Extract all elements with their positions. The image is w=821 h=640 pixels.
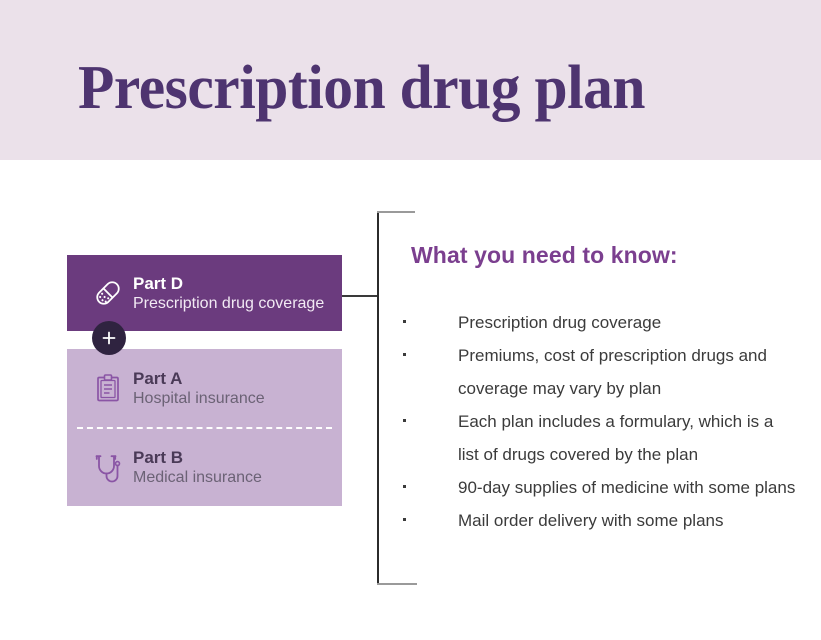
card-part-a-title: Part A [133,368,265,389]
clipboard-icon [67,372,129,404]
info-panel: What you need to know: Prescription drug… [377,211,797,585]
bullet-marker-icon [403,518,406,521]
card-part-d-subtitle: Prescription drug coverage [133,294,324,313]
expand-plus-button[interactable] [92,321,126,355]
bracket-bottom-stub [377,583,417,585]
header-band: Prescription drug plan [0,0,821,160]
bullet-marker-icon [403,320,406,323]
list-item-text: 90-day supplies of medicine with some pl… [458,478,795,497]
list-item: 90-day supplies of medicine with some pl… [403,471,797,504]
list-item: Mail order delivery with some plans [403,504,797,537]
list-item: Each plan includes a formulary, which is… [403,405,797,471]
bracket-vertical-line [377,211,379,585]
bullet-marker-icon [403,485,406,488]
list-item: Prescription drug coverage [403,306,797,339]
stethoscope-icon [67,450,129,484]
card-part-d-title: Part D [133,273,324,294]
bracket-top-stub [377,211,415,213]
card-part-d-text: Part D Prescription drug coverage [129,273,324,313]
list-item-text: Premiums, cost of prescription drugs and… [458,346,767,398]
list-item: Premiums, cost of prescription drugs and… [403,339,797,405]
card-part-b-text: Part B Medical insurance [129,447,262,487]
card-part-a[interactable]: Part A Hospital insurance [67,349,342,427]
plus-icon [101,330,117,346]
card-part-d[interactable]: Part D Prescription drug coverage [67,255,342,331]
inactive-cards-group: Part A Hospital insurance Part B Med [67,349,342,506]
list-item-text: Mail order delivery with some plans [458,511,724,530]
card-part-a-subtitle: Hospital insurance [133,389,265,408]
card-part-b-title: Part B [133,447,262,468]
card-part-b-subtitle: Medical insurance [133,468,262,487]
plan-parts-card-stack: Part D Prescription drug coverage Part A… [67,255,342,331]
card-part-b[interactable]: Part B Medical insurance [67,428,342,506]
bullet-marker-icon [403,353,406,356]
connector-line [342,295,379,297]
card-part-a-text: Part A Hospital insurance [129,368,265,408]
bullet-marker-icon [403,419,406,422]
info-bullet-list: Prescription drug coverage Premiums, cos… [403,306,797,537]
page-title: Prescription drug plan [78,52,645,124]
pill-capsule-icon [67,276,129,310]
list-item-text: Prescription drug coverage [458,313,661,332]
panel-heading: What you need to know: [411,242,678,269]
list-item-text: Each plan includes a formulary, which is… [458,412,773,464]
